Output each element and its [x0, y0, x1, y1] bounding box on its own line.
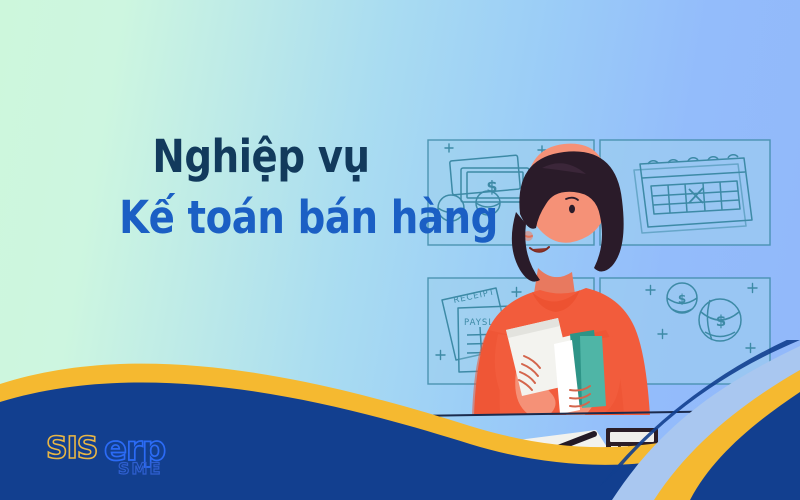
eye-right: [569, 205, 575, 213]
dollar-sign-coin-small: $: [678, 292, 686, 306]
desk-paper-and-pen: [518, 430, 614, 468]
envelope-icon: [664, 434, 716, 472]
headline-block: Nghiệp vụ Kế toán bán hàng: [96, 134, 426, 240]
logo-sme-text: SME: [118, 459, 162, 478]
dollar-sign-coin-large: $: [716, 312, 726, 330]
banner-canvas: $: [0, 0, 800, 500]
logo-sis-text: SIS: [46, 431, 97, 466]
headline-line-2: Kế toán bán hàng: [119, 195, 403, 240]
calculator-icon: [606, 428, 658, 472]
held-folders: [554, 330, 606, 414]
illustration: $: [420, 0, 800, 500]
headline-line-1: Nghiệp vụ: [119, 134, 403, 179]
logo[interactable]: SIS erp SME: [46, 428, 256, 480]
